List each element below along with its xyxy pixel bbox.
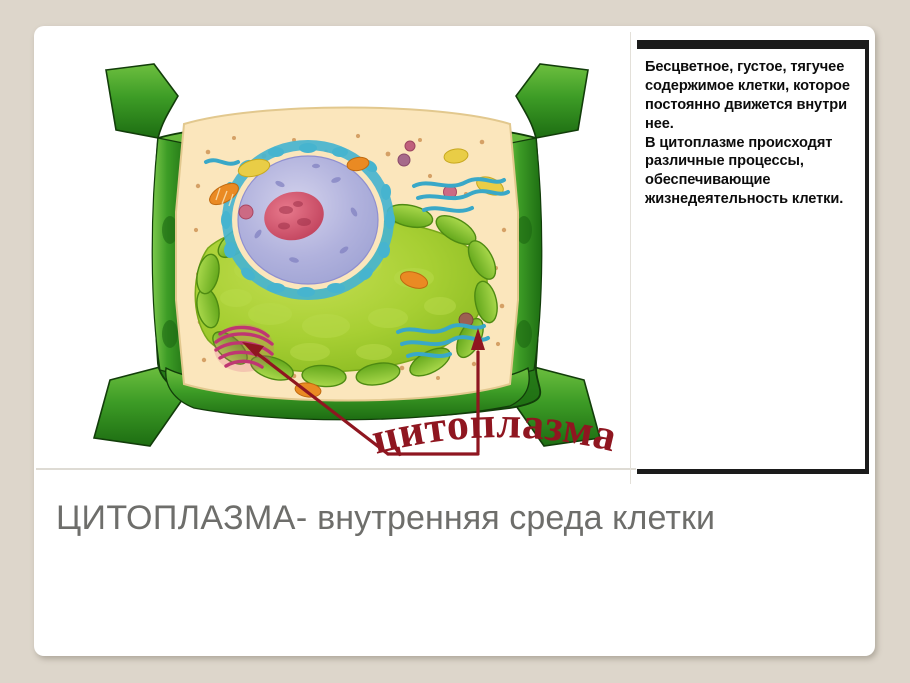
description-textbox: Бесцветное, густое, тягучее содержимое к… xyxy=(637,40,869,474)
cytoplasm-region xyxy=(176,108,518,401)
horizontal-divider xyxy=(36,468,636,470)
plant-cell-diagram: цитоплазма xyxy=(58,34,634,474)
vertical-divider xyxy=(630,32,631,484)
callout-label: цитоплазма xyxy=(367,398,622,463)
slide-caption: ЦИТОПЛАЗМА- внутренняя среда клетки xyxy=(56,496,816,540)
svg-text:цитоплазма: цитоплазма xyxy=(367,398,622,463)
slide-surface: цитоплазма Бесцветное, густое, тягучее с… xyxy=(34,26,875,656)
caption-definition: внутренняя среда клетки xyxy=(308,499,715,537)
description-text: Бесцветное, густое, тягучее содержимое к… xyxy=(637,49,865,209)
caption-term: ЦИТОПЛАЗМА- xyxy=(56,499,308,537)
